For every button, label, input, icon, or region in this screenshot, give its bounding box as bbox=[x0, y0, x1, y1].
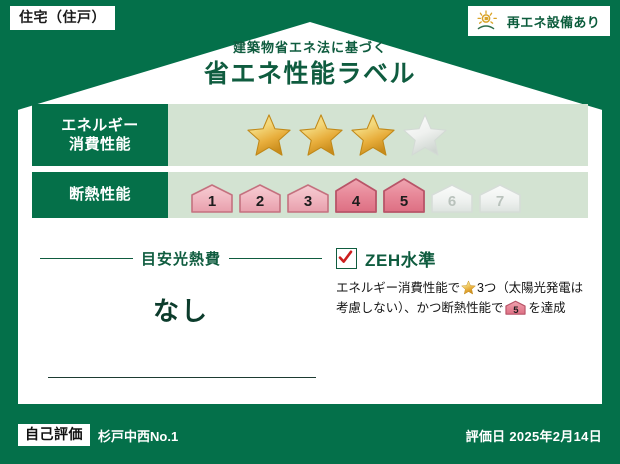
label-content: 建築物省エネ法に基づく 省エネ性能ラベル エネルギー 消費性能 bbox=[18, 22, 602, 404]
insulation-grade-4: 4 bbox=[334, 177, 378, 213]
utility-cost-title: 目安光熱費 bbox=[141, 248, 221, 269]
zeh-description: エネルギー消費性能で3つ（太陽光発電は考慮しない）、かつ断熱性能で5を達成 bbox=[336, 278, 584, 319]
insulation-grade-6-number: 6 bbox=[430, 193, 474, 210]
heading-rule-left bbox=[40, 258, 133, 259]
page-title: 省エネ性能ラベル bbox=[18, 59, 602, 90]
zeh-heading: ZEH水準 bbox=[336, 246, 584, 271]
inline-star-icon bbox=[461, 280, 476, 295]
evaluation-date: 評価日 2025年2月14日 bbox=[466, 426, 602, 445]
heading-rule-right bbox=[229, 258, 322, 259]
star-icon-filled-3 bbox=[350, 112, 396, 158]
insulation-grade-6: 6 bbox=[430, 183, 474, 213]
building-type-badge: 住宅（住戸） bbox=[10, 6, 115, 30]
energy-performance-label: エネルギー 消費性能 bbox=[32, 104, 168, 166]
insulation-grade-7: 7 bbox=[478, 183, 522, 213]
renewable-energy-badge: 再エネ設備あり bbox=[468, 6, 610, 36]
evaluation-type-badge: 自己評価 bbox=[18, 424, 90, 446]
footer: 自己評価 杉戸中西No.1 評価日 2025年2月14日 bbox=[0, 406, 620, 464]
zeh-desc-part1: エネルギー消費性能で bbox=[336, 281, 460, 295]
insulation-grade-scale: 1 2 3 bbox=[168, 177, 522, 213]
star-icon-filled-2 bbox=[298, 112, 344, 158]
star-rating bbox=[168, 112, 448, 158]
insulation-performance-label: 断熱性能 bbox=[32, 172, 168, 218]
star-icon-empty-4 bbox=[402, 112, 448, 158]
star-icon-filled-1 bbox=[246, 112, 292, 158]
energy-label-line1: エネルギー bbox=[61, 116, 139, 135]
insulation-grade-5: 5 bbox=[382, 177, 426, 213]
insulation-grade-2-number: 2 bbox=[238, 193, 282, 210]
inline-house-badge-icon: 5 bbox=[505, 300, 526, 315]
energy-label-line2: 消費性能 bbox=[61, 135, 139, 154]
performance-table: エネルギー 消費性能 bbox=[32, 104, 588, 218]
title-block: 建築物省エネ法に基づく 省エネ性能ラベル bbox=[18, 40, 602, 90]
utility-cost-heading: 目安光熱費 bbox=[40, 248, 322, 269]
check-icon bbox=[338, 250, 353, 265]
zeh-title: ZEH水準 bbox=[365, 246, 436, 271]
utility-cost-value: なし bbox=[40, 291, 322, 328]
renewable-badge-label: 再エネ設備あり bbox=[507, 12, 600, 31]
zeh-checkbox[interactable] bbox=[336, 248, 357, 269]
insulation-grade-3-number: 3 bbox=[286, 193, 330, 210]
sun-solar-icon bbox=[475, 10, 501, 32]
evaluation-property-name: 杉戸中西No.1 bbox=[98, 426, 178, 445]
energy-performance-label: 住宅（住戸） 再エネ設備あり 建築物省エネ法に基づく 省エネ性能ラベル bbox=[0, 0, 620, 464]
insulation-performance-value: 1 2 3 bbox=[168, 172, 588, 218]
energy-performance-value bbox=[168, 104, 588, 166]
utility-cost-underline bbox=[48, 377, 316, 378]
insulation-grade-3: 3 bbox=[286, 183, 330, 213]
title-subtitle: 建築物省エネ法に基づく bbox=[18, 40, 602, 56]
insulation-grade-5-number: 5 bbox=[382, 193, 426, 210]
insulation-grade-1-number: 1 bbox=[190, 193, 234, 210]
utility-cost-column: 目安光熱費 なし bbox=[40, 244, 322, 384]
insulation-grade-1: 1 bbox=[190, 183, 234, 213]
energy-performance-row: エネルギー 消費性能 bbox=[32, 104, 588, 166]
inline-house-badge-number: 5 bbox=[505, 306, 526, 316]
zeh-column: ZEH水準 エネルギー消費性能で3つ（太陽光発電は考慮しない）、かつ断熱性能で5… bbox=[322, 244, 584, 384]
zeh-desc-part3: を達成 bbox=[528, 301, 565, 315]
insulation-grade-2: 2 bbox=[238, 183, 282, 213]
insulation-grade-7-number: 7 bbox=[478, 193, 522, 210]
insulation-performance-row: 断熱性能 1 bbox=[32, 172, 588, 218]
bottom-section: 目安光熱費 なし ZEH水準 エネルギー消費性能で3つ（太陽光発電は考慮しな bbox=[40, 244, 584, 384]
insulation-grade-4-number: 4 bbox=[334, 193, 378, 210]
